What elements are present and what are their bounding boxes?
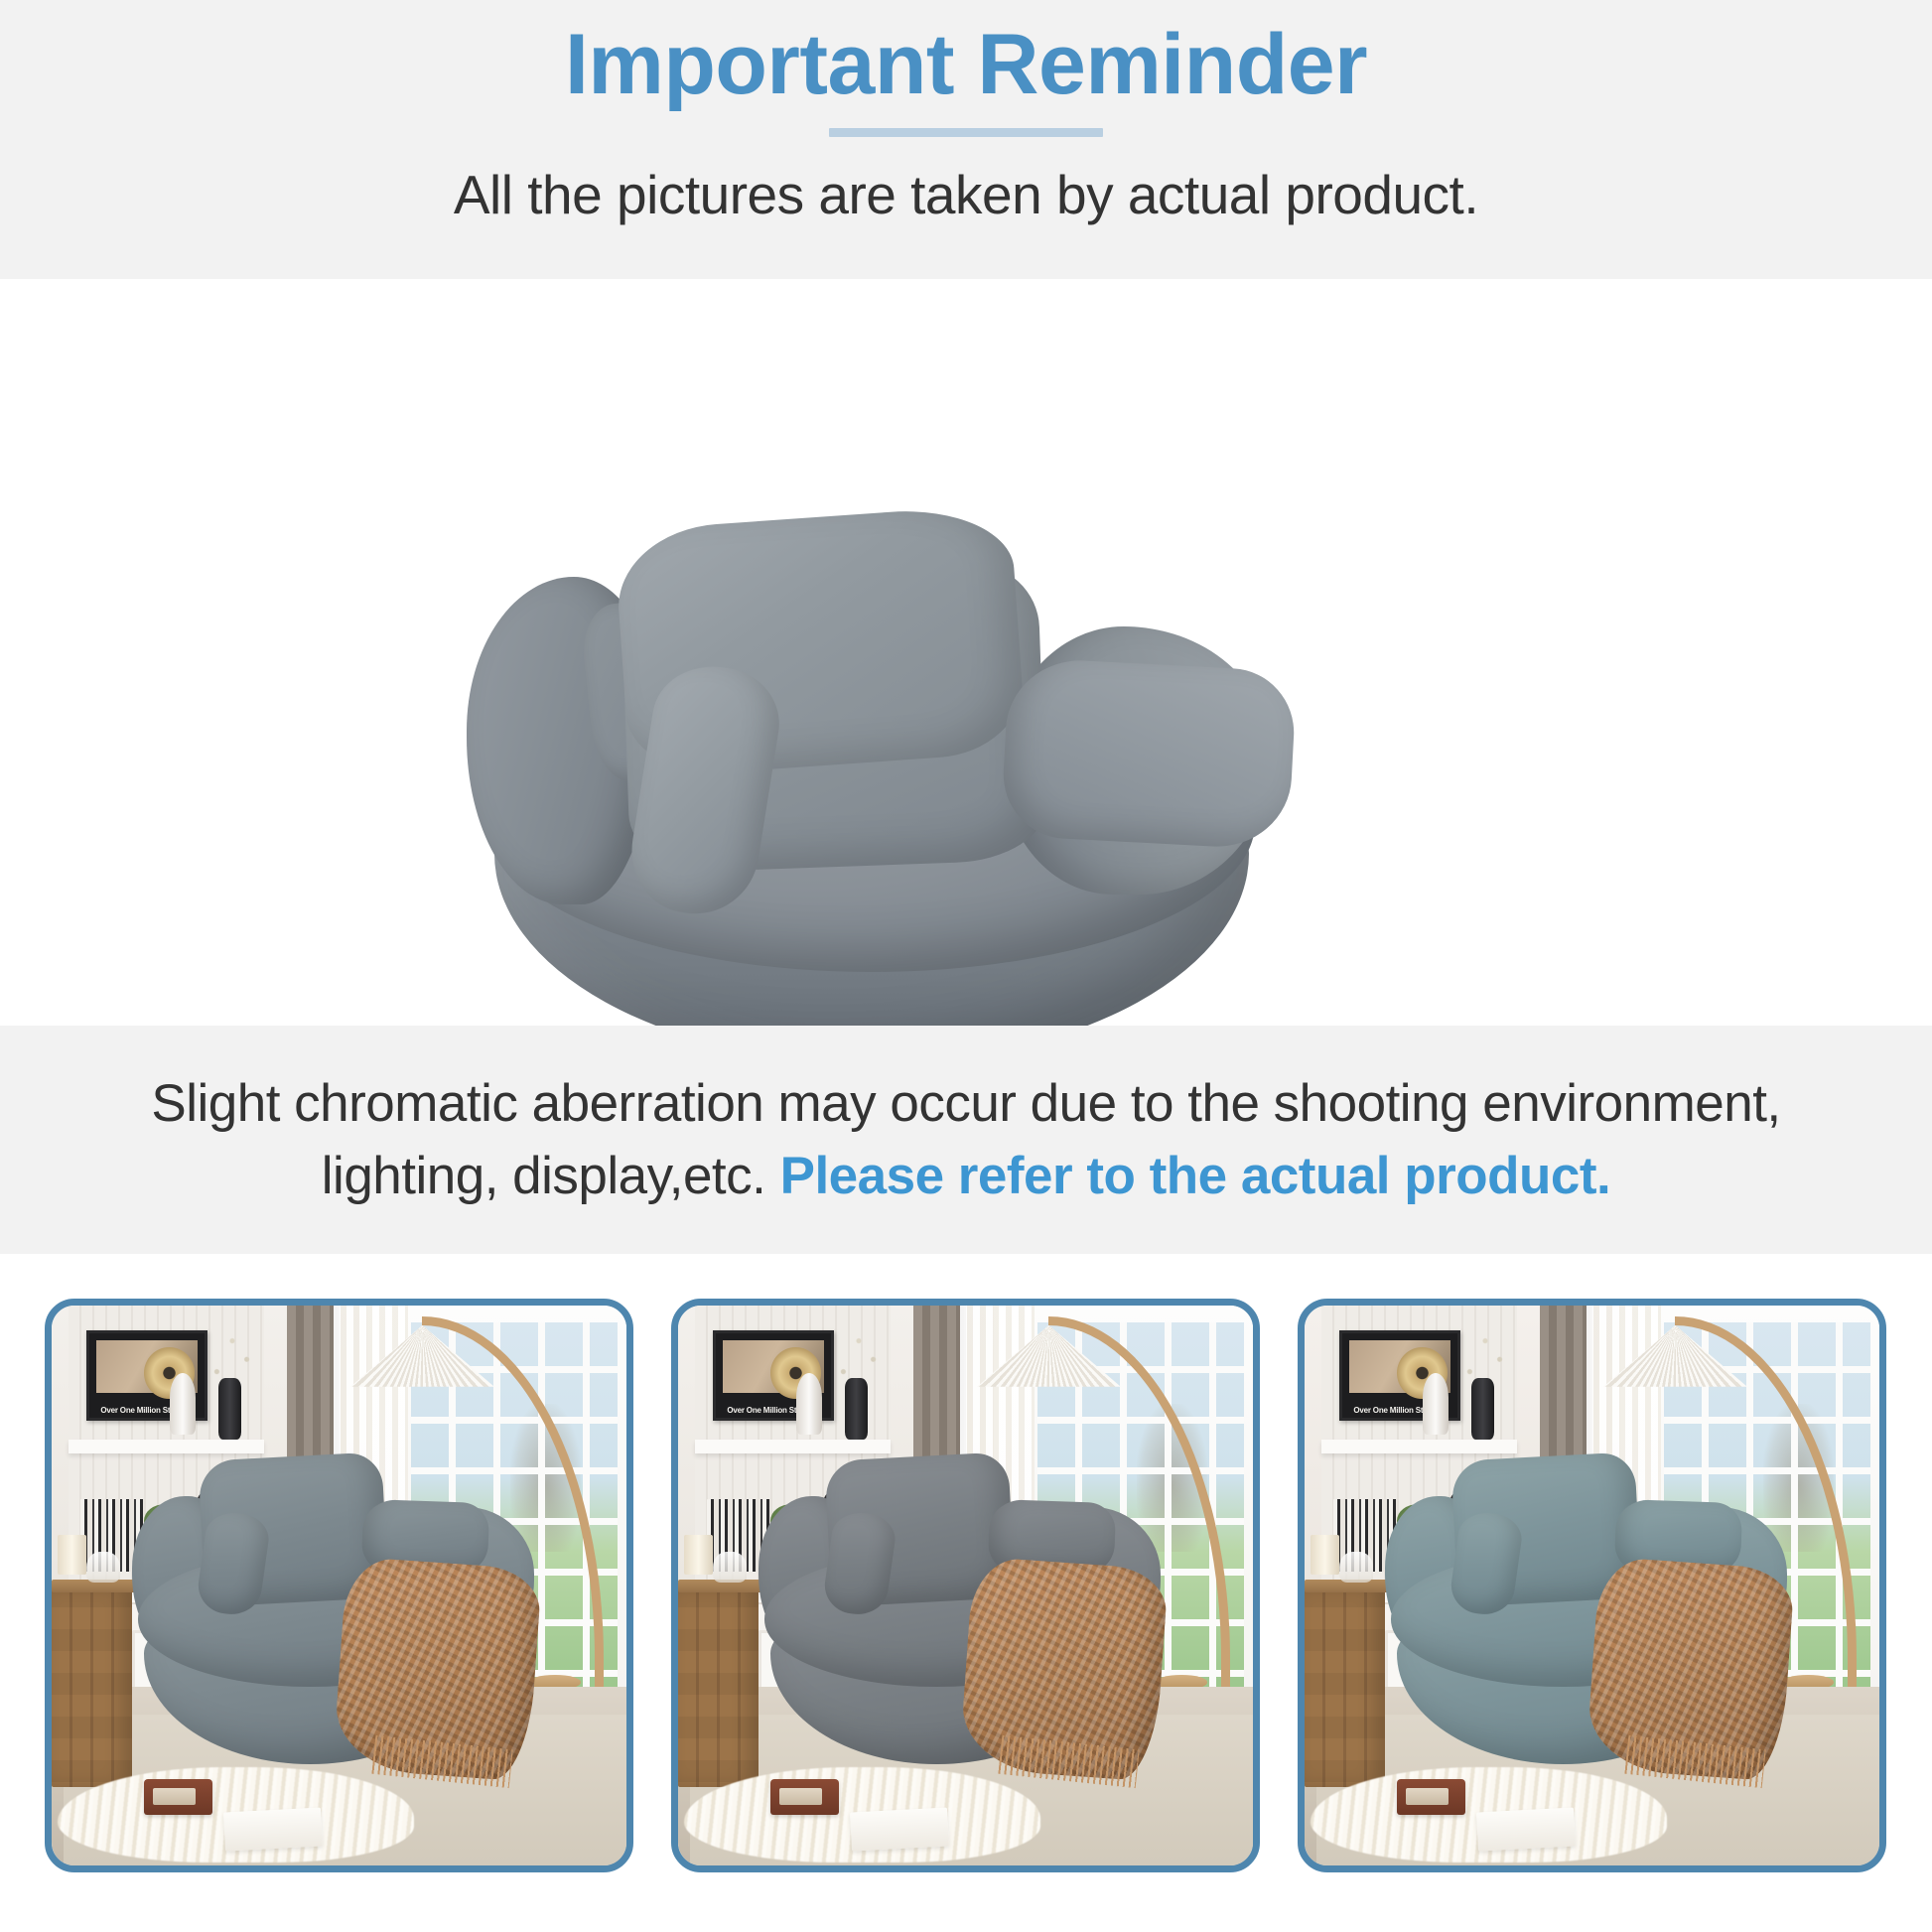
header-subtitle: All the pictures are taken by actual pro… <box>454 163 1478 226</box>
hero-product-section <box>0 279 1932 1026</box>
wooden-nightstand <box>678 1586 759 1787</box>
black-branch-vase <box>218 1378 241 1440</box>
dried-branch <box>833 1322 885 1384</box>
toy-radio <box>144 1779 212 1816</box>
disclaimer-accent-text: Please refer to the actual product. <box>780 1147 1611 1205</box>
white-statue <box>1423 1373 1449 1435</box>
glass-jar <box>86 1552 121 1583</box>
pillar-candle <box>1311 1535 1339 1574</box>
pillar-candle <box>684 1535 713 1574</box>
disclaimer-line-1: Slight chromatic aberration may occur du… <box>151 1067 1780 1140</box>
toy-radio <box>1397 1779 1465 1816</box>
glass-jar <box>713 1552 748 1583</box>
shelf-top <box>695 1440 891 1453</box>
chair-lumbar-pillow <box>1000 657 1297 851</box>
dried-branch <box>207 1322 258 1384</box>
room-scene-3: Over One Million Streams <box>1305 1306 1879 1865</box>
white-statue <box>170 1373 196 1435</box>
black-branch-vase <box>845 1378 868 1440</box>
pillar-candle <box>58 1535 86 1574</box>
thumbnail-1[interactable]: Over One Million Streams <box>45 1299 633 1872</box>
shelf-top <box>1321 1440 1517 1453</box>
thumbnail-2[interactable]: Over One Million Streams <box>671 1299 1260 1872</box>
disclaimer-line-2-plain: lighting, display,etc. <box>322 1147 780 1205</box>
header-band: Important Reminder All the pictures are … <box>0 0 1932 279</box>
room-scene-2: Over One Million Streams <box>678 1306 1253 1865</box>
dried-branch <box>1459 1322 1511 1384</box>
thumbnail-3[interactable]: Over One Million Streams <box>1298 1299 1886 1872</box>
wooden-nightstand <box>52 1586 132 1787</box>
toy-radio <box>770 1779 839 1816</box>
title-divider <box>829 128 1103 137</box>
glass-jar <box>1339 1552 1374 1583</box>
white-statue <box>796 1373 822 1435</box>
hero-product-image <box>0 279 1932 1026</box>
shelf-top <box>69 1440 264 1453</box>
product-reminder-page: Important Reminder All the pictures are … <box>0 0 1932 1932</box>
wooden-nightstand <box>1305 1586 1385 1787</box>
open-book <box>223 1807 323 1852</box>
open-book <box>1476 1807 1576 1852</box>
room-scene-1: Over One Million Streams <box>52 1306 626 1865</box>
thumbnail-row: Over One Million Streams <box>0 1254 1932 1932</box>
disclaimer-band: Slight chromatic aberration may occur du… <box>0 1026 1932 1254</box>
open-book <box>850 1807 949 1852</box>
page-title: Important Reminder <box>565 16 1367 114</box>
black-branch-vase <box>1471 1378 1494 1440</box>
disclaimer-line-2: lighting, display,etc. Please refer to t… <box>322 1140 1610 1212</box>
